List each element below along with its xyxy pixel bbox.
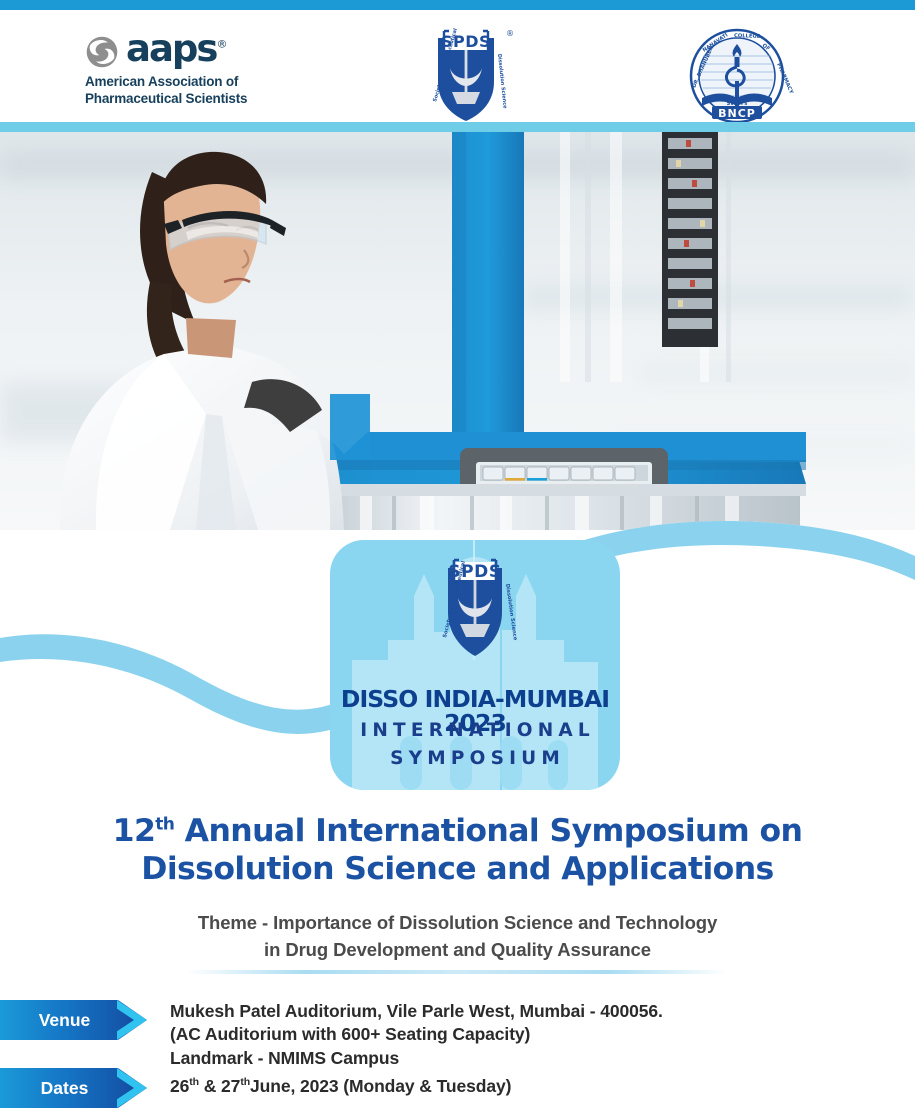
header-divider-strip <box>0 122 915 132</box>
aaps-wordmark: aaps® <box>126 32 227 66</box>
svg-text:®: ® <box>506 29 514 38</box>
disso-subtitle-international: INTERNATIONAL <box>330 720 620 741</box>
dates-day1-suffix: th <box>189 1076 199 1088</box>
theme-divider <box>187 970 727 974</box>
main-title-block: 12th Annual International Symposium on D… <box>0 812 915 888</box>
dates-day2-suffix: th <box>240 1076 250 1088</box>
title-ordinal: 12 <box>113 813 156 849</box>
dates-mid: & 27 <box>199 1076 240 1096</box>
bncp-seal-icon: SVKM's BNCP INTEGRITY LEADERSHIP EXCELLE… <box>678 26 796 130</box>
main-title-line1: 12th Annual International Symposium on <box>0 812 915 850</box>
aaps-registered-mark: ® <box>216 38 227 51</box>
title-ordinal-suffix: th <box>155 815 174 835</box>
dates-label: Dates <box>41 1078 107 1099</box>
top-accent-strip <box>0 0 915 10</box>
bncp-logo: SVKM's BNCP INTEGRITY LEADERSHIP EXCELLE… <box>678 26 796 130</box>
dates-label-chevron: Dates <box>0 1068 147 1108</box>
theme-line-2: in Drug Development and Quality Assuranc… <box>0 937 915 964</box>
venue-line-2: (AC Auditorium with 600+ Seating Capacit… <box>170 1023 663 1046</box>
aaps-subtitle-line2: Pharmaceutical Scientists <box>85 91 335 108</box>
aaps-swoosh-icon <box>85 35 119 69</box>
spds-shield-icon: SPDS Society for Pharmaceutical Dissolut… <box>410 24 522 128</box>
venue-label: Venue <box>39 1010 109 1031</box>
spds-logo-center: SPDS Society for Pharmaceutical Dissolut… <box>422 552 528 668</box>
venue-row: Venue Mukesh Patel Auditorium, Vile Parl… <box>0 1000 663 1070</box>
theme-line-1: Theme - Importance of Dissolution Scienc… <box>0 910 915 937</box>
venue-label-chevron: Venue <box>0 1000 147 1040</box>
aaps-wordmark-text: aaps <box>126 27 216 70</box>
main-title-line2: Dissolution Science and Applications <box>0 850 915 888</box>
dates-day1: 26 <box>170 1076 189 1096</box>
title-rest: Annual International Symposium on <box>174 813 802 849</box>
dates-text: 26th & 27thJune, 2023 (Monday & Tuesday) <box>170 1075 511 1098</box>
svg-text:BNCP: BNCP <box>718 107 756 120</box>
aaps-subtitle-line1: American Association of <box>85 74 335 91</box>
venue-text: Mukesh Patel Auditorium, Vile Parle West… <box>170 1000 663 1070</box>
svg-text:Dissolution Science: Dissolution Science <box>496 54 508 110</box>
aaps-subtitle: American Association of Pharmaceutical S… <box>85 74 335 108</box>
spds-logo: SPDS Society for Pharmaceutical Dissolut… <box>410 24 522 128</box>
venue-line-3: Landmark - NMIMS Campus <box>170 1047 663 1070</box>
logo-header-band: aaps® American Association of Pharmaceut… <box>0 10 915 122</box>
venue-line-1: Mukesh Patel Auditorium, Vile Parle West… <box>170 1000 663 1023</box>
dates-chevron-tip <box>117 1068 147 1108</box>
theme-block: Theme - Importance of Dissolution Scienc… <box>0 910 915 964</box>
disso-subtitle-symposium: SYMPOSIUM <box>330 748 620 769</box>
dates-rest: June, 2023 (Monday & Tuesday) <box>250 1076 511 1096</box>
svg-text:COLLEGE: COLLEGE <box>734 33 761 40</box>
disso-branding-panel: SPDS Society for Pharmaceutical Dissolut… <box>330 540 620 790</box>
svg-text:Dissolution Science: Dissolution Science <box>504 583 518 641</box>
dates-row: Dates 26th & 27thJune, 2023 (Monday & Tu… <box>0 1068 511 1108</box>
venue-chevron-tip <box>117 1000 147 1040</box>
aaps-logo: aaps® American Association of Pharmaceut… <box>85 32 335 108</box>
